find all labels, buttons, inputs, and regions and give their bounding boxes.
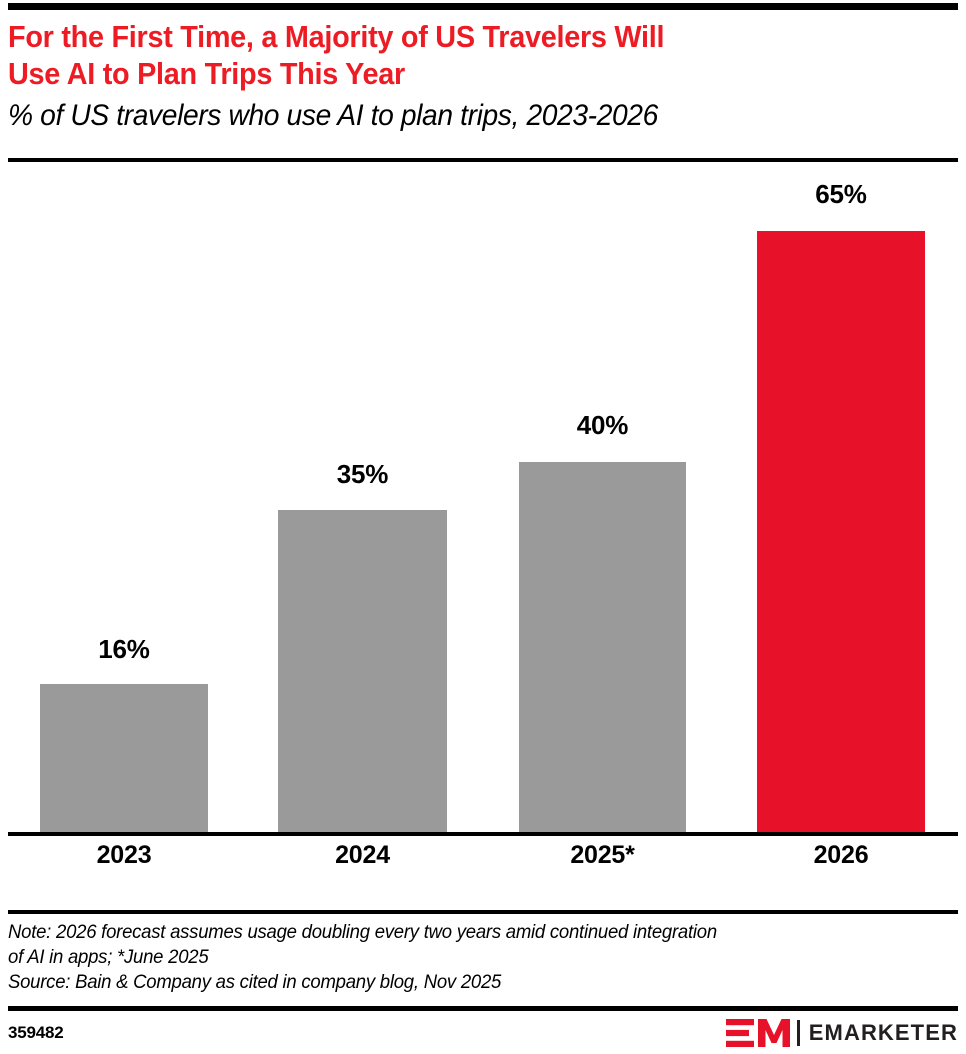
bar-2025[interactable]: [519, 462, 686, 832]
em-monogram-icon: [726, 1019, 790, 1047]
bar-2026[interactable]: [757, 231, 925, 832]
x-axis-line: [8, 832, 958, 836]
note-text: Note: 2026 forecast assumes usage doubli…: [8, 920, 911, 970]
bar-slot-2023: 16%: [40, 170, 208, 832]
bar-chart-plot: 16% 35% 40% 65%: [8, 170, 958, 836]
source-text: Source: Bain & Company as cited in compa…: [8, 970, 911, 995]
x-label-2025: 2025*: [519, 840, 686, 870]
logo-divider: [797, 1020, 800, 1046]
chart-id: 359482: [8, 1022, 64, 1044]
footnotes: Note: 2026 forecast assumes usage doubli…: [8, 920, 911, 995]
bar-value-2025: 40%: [519, 410, 686, 440]
x-label-2026: 2026: [757, 840, 925, 870]
bar-slot-2024: 35%: [278, 170, 447, 832]
x-axis-labels: 2023 2024 2025* 2026: [8, 840, 958, 880]
chart-header: For the First Time, a Majority of US Tra…: [8, 18, 958, 134]
chart-sheet: For the First Time, a Majority of US Tra…: [0, 0, 966, 1054]
x-label-2024: 2024: [278, 840, 447, 870]
bar-slot-2025: 40%: [519, 170, 686, 832]
bar-2024[interactable]: [278, 510, 447, 832]
header-divider: [8, 158, 958, 162]
brand-name: EMARKETER: [809, 1021, 958, 1045]
chart-footer: 359482 EMARKETER: [8, 1018, 958, 1050]
bar-slot-2026: 65%: [757, 170, 925, 832]
x-label-2023: 2023: [40, 840, 208, 870]
bar-2023[interactable]: [40, 684, 208, 832]
top-rule: [8, 3, 958, 10]
bar-series: 16% 35% 40% 65%: [8, 170, 958, 832]
emarketer-logo[interactable]: EMARKETER: [726, 1018, 958, 1048]
bar-value-2024: 35%: [278, 459, 447, 489]
page-subtitle: % of US travelers who use AI to plan tri…: [8, 98, 901, 134]
bar-value-2026: 65%: [757, 179, 925, 209]
bar-value-2023: 16%: [40, 634, 208, 664]
bottom-divider: [8, 1006, 958, 1011]
page-title: For the First Time, a Majority of US Tra…: [8, 18, 892, 92]
footnote-divider: [8, 910, 958, 914]
